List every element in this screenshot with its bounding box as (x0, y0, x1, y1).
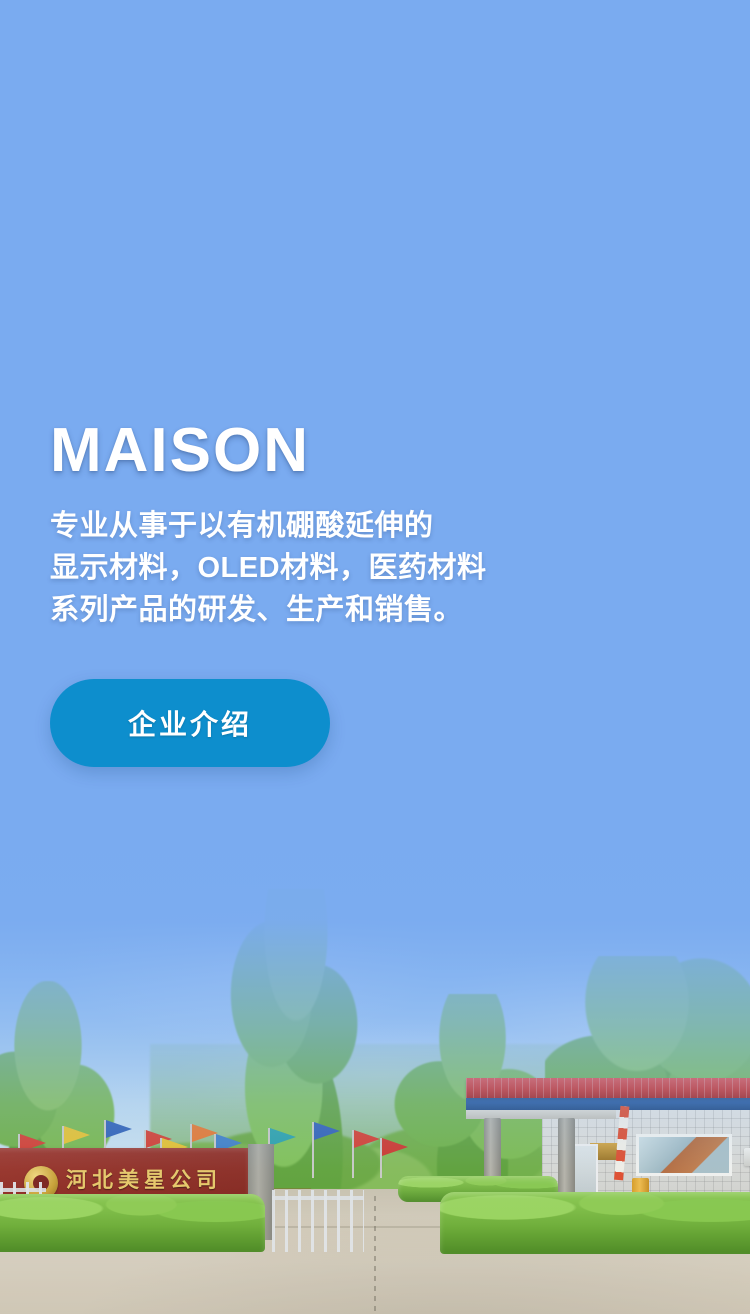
hero-description-line-1: 专业从事于以有机硼酸延伸的 (50, 505, 710, 547)
hero-description-line-3: 系列产品的研发、生产和销售。 (50, 589, 710, 631)
hero-content: MAISON 专业从事于以有机硼酸延伸的 显示材料，OLED材料，医药材料 系列… (50, 418, 710, 767)
hero-title: MAISON (50, 418, 710, 483)
company-intro-button[interactable]: 企业介绍 (50, 679, 330, 767)
hero-page: 河北美星公司 MAISON CHEMICAL MAISON (0, 0, 750, 1314)
hero-description-line-2: 显示材料，OLED材料，医药材料 (50, 547, 710, 589)
hero-description: 专业从事于以有机硼酸延伸的 显示材料，OLED材料，医药材料 系列产品的研发、生… (50, 505, 710, 631)
